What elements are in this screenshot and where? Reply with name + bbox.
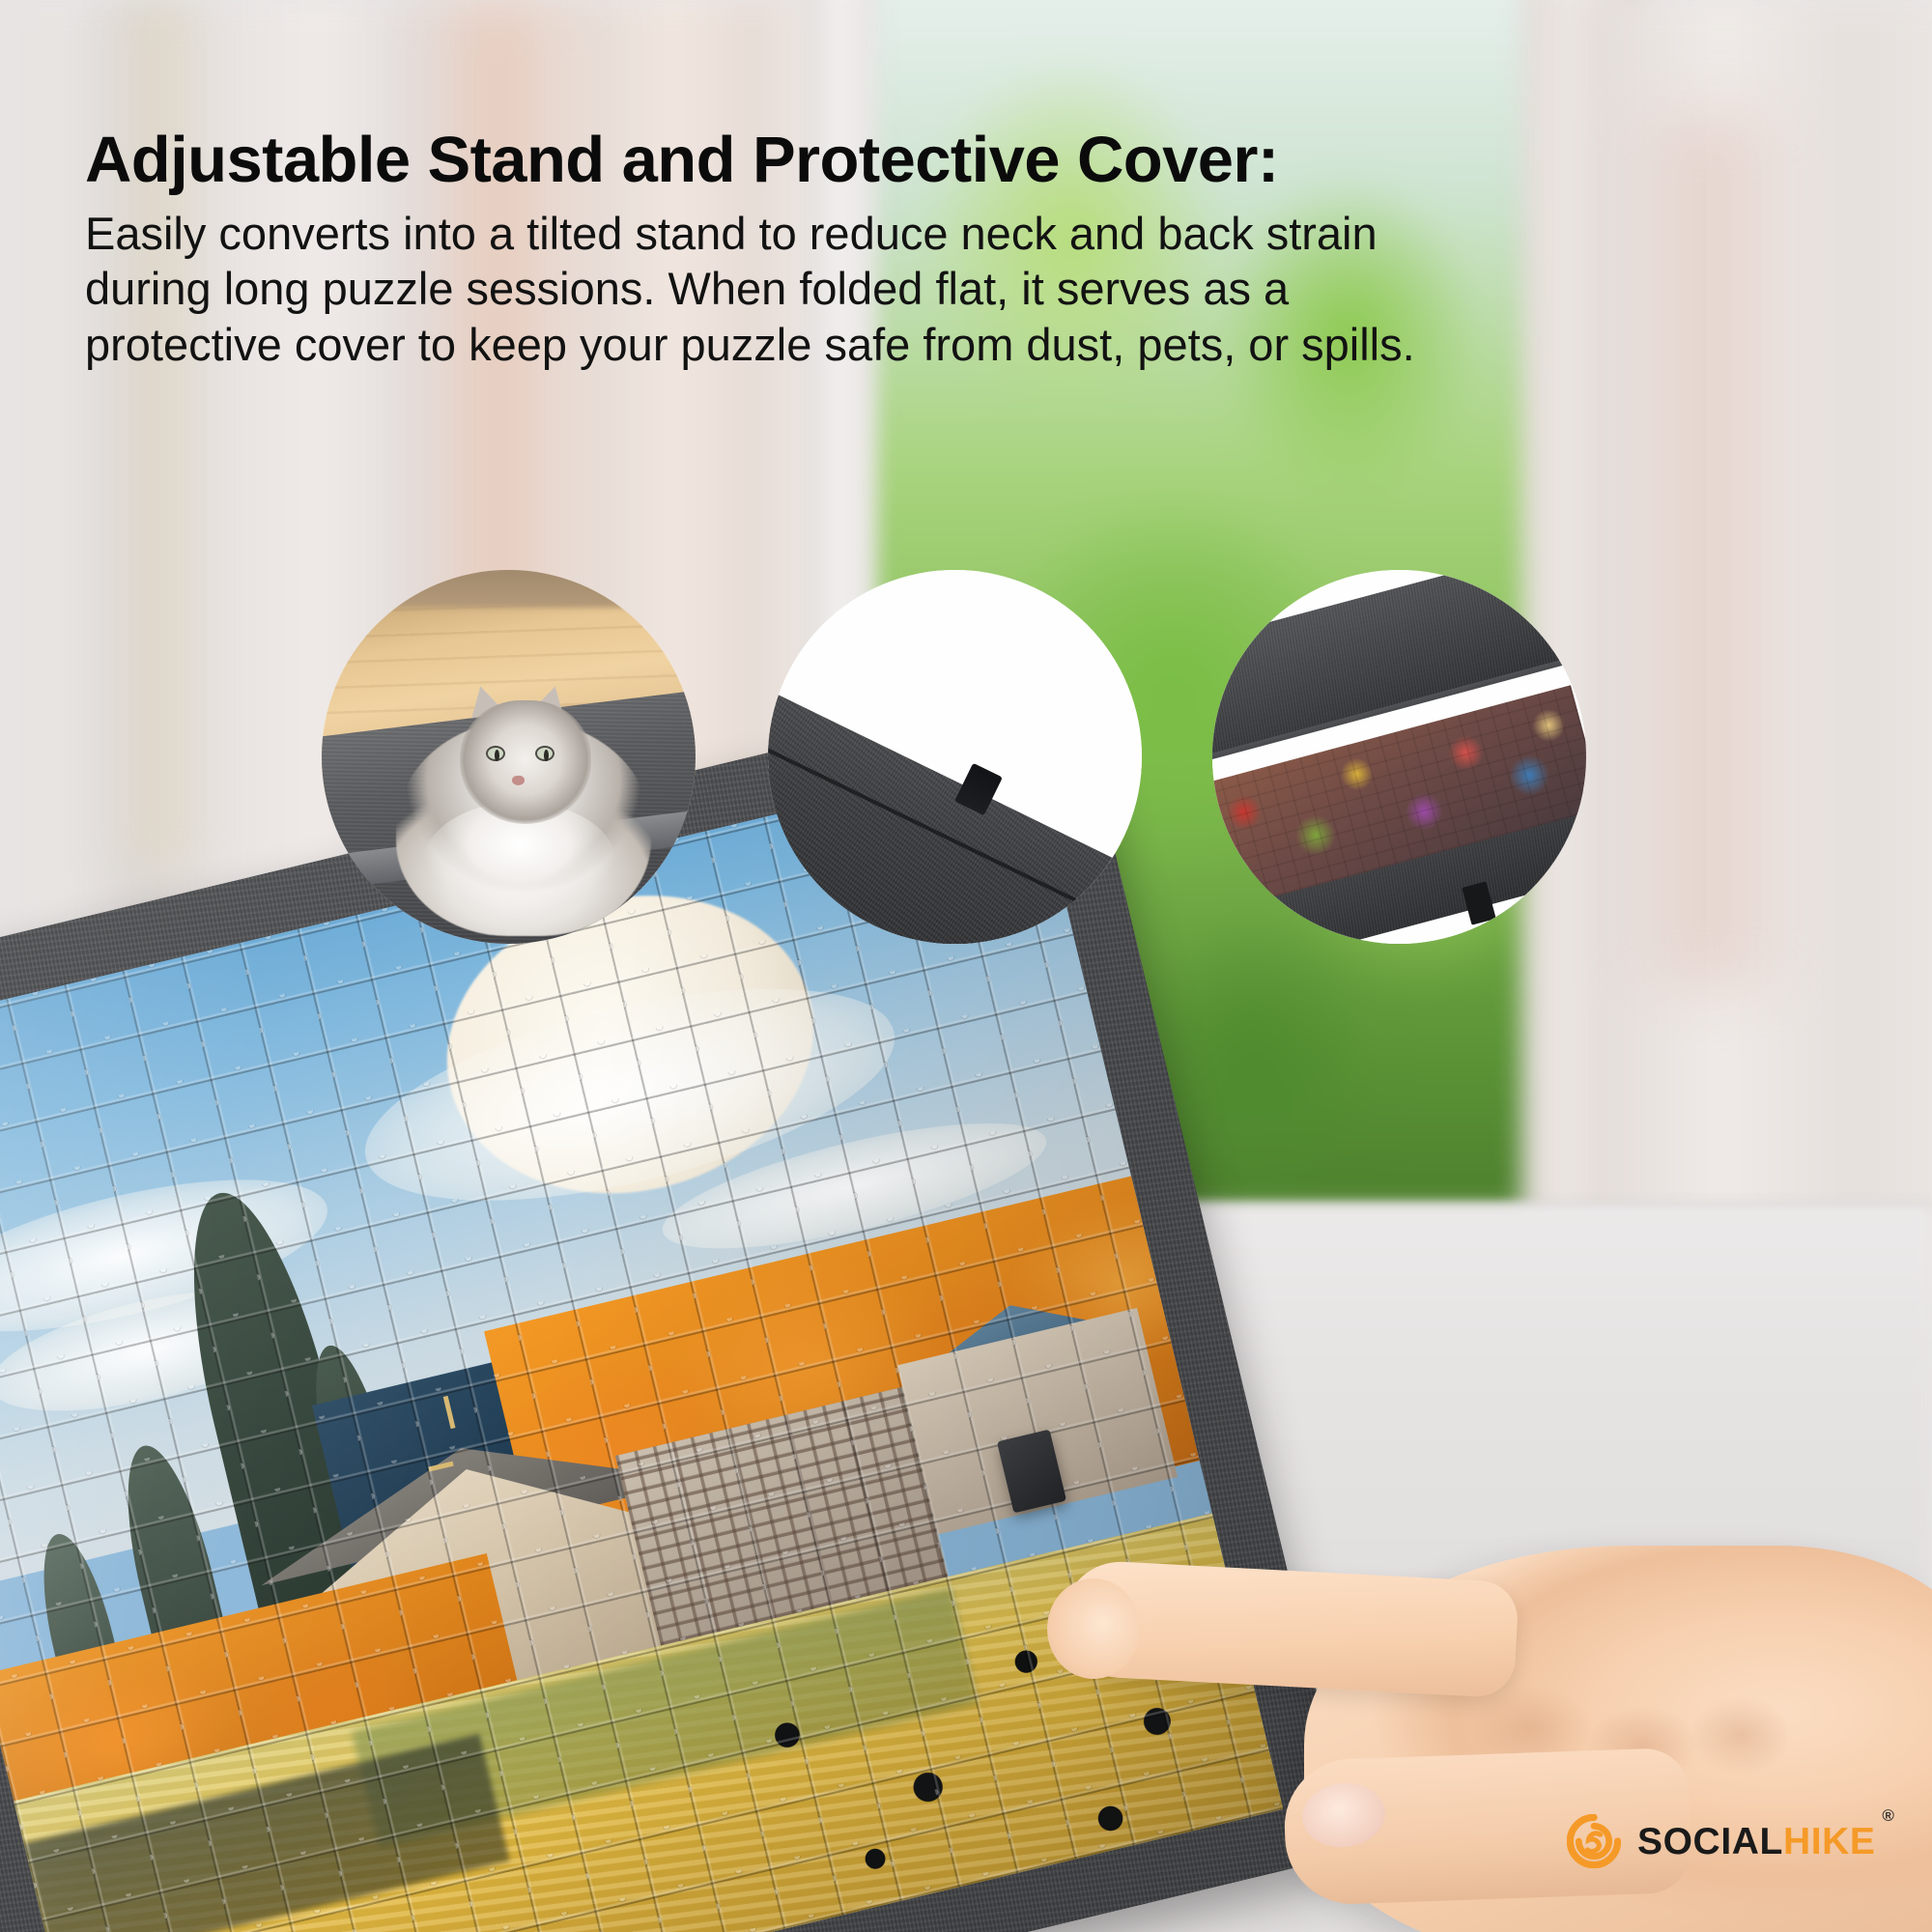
registered-trademark-symbol: ®	[1882, 1807, 1894, 1824]
marketing-image-canvas: Adjustable Stand and Protective Cover: E…	[0, 0, 1932, 1932]
description-line-2: during long puzzle sessions. When folded…	[85, 261, 1833, 316]
description-line-3: protective cover to keep your puzzle saf…	[85, 317, 1833, 372]
brand-logo[interactable]: SOCIALHIKE ®	[1567, 1814, 1876, 1868]
header-copy-block: Adjustable Stand and Protective Cover: E…	[85, 128, 1862, 372]
brand-name-secondary: HIKE	[1783, 1821, 1876, 1862]
thumbnail-cover-lifted	[1212, 570, 1586, 944]
thumbnail-cat-on-felt-mat	[322, 570, 696, 944]
feature-description: Easily converts into a tilted stand to r…	[85, 206, 1833, 372]
cat-eye	[486, 746, 505, 761]
page-title: Adjustable Stand and Protective Cover:	[85, 128, 1862, 192]
description-line-1: Easily converts into a tilted stand to r…	[85, 206, 1833, 261]
thumbnail-folded-board-edge	[768, 570, 1142, 944]
cat-eye	[535, 746, 554, 761]
socialhike-swirl-icon	[1567, 1814, 1621, 1868]
brand-name-primary: SOCIAL	[1637, 1821, 1783, 1862]
cat-head	[460, 700, 590, 824]
brand-wordmark: SOCIALHIKE ®	[1637, 1823, 1876, 1861]
wood-wall-shadow	[322, 570, 696, 608]
